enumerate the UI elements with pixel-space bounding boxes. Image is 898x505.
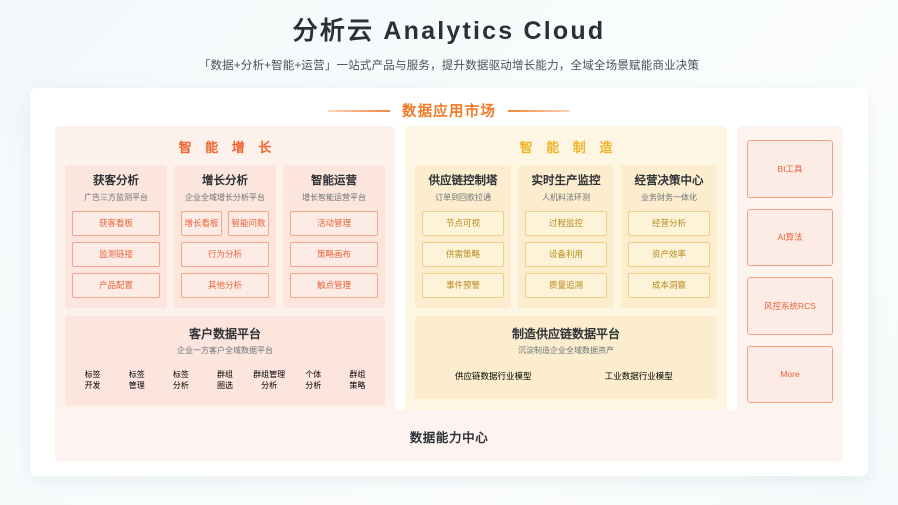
platform-chip-button[interactable]: 标签 开发	[73, 364, 112, 396]
main-card: 数据应用市场 智 能 增 长 获客分析广告三方监测平台获客看板监测链接产品配置增…	[30, 88, 868, 476]
platform-chip-button[interactable]: 标签 管理	[117, 364, 156, 396]
side-tool-button[interactable]: 风控系统RCS	[747, 277, 833, 335]
product-tag-row: 行为分析	[181, 242, 269, 267]
product-tag-row: 产品配置	[72, 273, 160, 298]
product-tag-row: 供需策略	[422, 242, 504, 267]
product-tag-button[interactable]: 过程监控	[525, 211, 607, 236]
data-capability-center-bar: 数据能力中心	[55, 410, 843, 462]
cdp-subtitle: 企业一方客户全域数据平台	[73, 345, 377, 356]
product-tag-row: 触点管理	[290, 273, 378, 298]
product-column: 经营决策中心业务财务一体化经营分析资产效率成本洞察	[621, 165, 717, 308]
page-header: 分析云 Analytics Cloud 「数据+分析+智能+运营」一站式产品与服…	[0, 0, 898, 73]
product-tag-row: 策略画布	[290, 242, 378, 267]
product-column-title: 实时生产监控	[525, 174, 607, 189]
product-column-subtitle: 广告三方监测平台	[72, 192, 160, 203]
product-tag-button[interactable]: 其他分析	[181, 273, 269, 298]
mdp-subtitle: 沉淀制造企业全域数据资产	[423, 345, 709, 356]
product-tag-button[interactable]: 经营分析	[628, 211, 710, 236]
product-tag-row: 设备利用	[525, 242, 607, 267]
customer-data-platform: 客户数据平台 企业一方客户全域数据平台 标签 开发标签 管理标签 分析群组 圈选…	[65, 316, 385, 406]
platform-chip-button[interactable]: 供应链数据行业模型	[423, 364, 564, 389]
product-column-title: 获客分析	[72, 174, 160, 189]
product-tag-rows: 过程监控设备利用质量追溯	[525, 211, 607, 298]
product-tag-button[interactable]: 活动管理	[290, 211, 378, 236]
platform-chip-button[interactable]: 群组 圈选	[205, 364, 244, 396]
product-tag-row: 经营分析	[628, 211, 710, 236]
product-column: 智能运营增长智能运营平台活动管理策略画布触点管理	[283, 165, 385, 308]
product-tag-button[interactable]: 设备利用	[525, 242, 607, 267]
product-tag-rows: 经营分析资产效率成本洞察	[628, 211, 710, 298]
section-banner: 数据应用市场	[30, 88, 868, 121]
product-tag-rows: 活动管理策略画布触点管理	[290, 211, 378, 298]
product-column-title: 增长分析	[181, 174, 269, 189]
growth-columns: 获客分析广告三方监测平台获客看板监测链接产品配置增长分析企业全域增长分析平台增长…	[65, 165, 385, 308]
platform-chip-button[interactable]: 标签 分析	[161, 364, 200, 396]
product-column-subtitle: 企业全域增长分析平台	[181, 192, 269, 203]
product-tag-row: 活动管理	[290, 211, 378, 236]
side-tool-button[interactable]: BI工具	[747, 140, 833, 198]
product-column-subtitle: 订单到回款拉通	[422, 192, 504, 203]
banner-rule-left-icon	[328, 110, 390, 112]
cdp-chip-row: 标签 开发标签 管理标签 分析群组 圈选群组管理 分析个体 分析群组 策略	[73, 364, 377, 396]
product-column: 获客分析广告三方监测平台获客看板监测链接产品配置	[65, 165, 167, 308]
product-column-subtitle: 业务财务一体化	[628, 192, 710, 203]
product-tag-row: 监测链接	[72, 242, 160, 267]
product-tag-row: 增长看板智能问数	[181, 211, 269, 236]
product-column-title: 智能运营	[290, 174, 378, 189]
panel-manufacturing-heading: 智 能 制 造	[415, 137, 717, 156]
panel-smart-manufacturing: 智 能 制 造 供应链控制塔订单到回款拉通节点可视供需策略事件预警实时生产监控人…	[405, 126, 727, 417]
product-tag-button[interactable]: 节点可视	[422, 211, 504, 236]
product-tag-row: 其他分析	[181, 273, 269, 298]
product-tag-rows: 获客看板监测链接产品配置	[72, 211, 160, 298]
platform-chip-button[interactable]: 个体 分析	[294, 364, 333, 396]
product-tag-button[interactable]: 行为分析	[181, 242, 269, 267]
product-column: 增长分析企业全域增长分析平台增长看板智能问数行为分析其他分析	[174, 165, 276, 308]
side-tool-button[interactable]: AI算法	[747, 209, 833, 267]
product-tag-button[interactable]: 产品配置	[72, 273, 160, 298]
panel-smart-growth: 智 能 增 长 获客分析广告三方监测平台获客看板监测链接产品配置增长分析企业全域…	[55, 126, 395, 417]
product-column-subtitle: 人机料法环测	[525, 192, 607, 203]
platform-chip-button[interactable]: 群组管理 分析	[250, 364, 289, 396]
panel-growth-heading: 智 能 增 长	[65, 137, 385, 156]
product-tag-rows: 节点可视供需策略事件预警	[422, 211, 504, 298]
cdp-title: 客户数据平台	[73, 325, 377, 342]
manufacturing-columns: 供应链控制塔订单到回款拉通节点可视供需策略事件预警实时生产监控人机料法环测过程监…	[415, 165, 717, 308]
bottom-bar-title: 数据能力中心	[410, 427, 489, 446]
page-root: 分析云 Analytics Cloud 「数据+分析+智能+运营」一站式产品与服…	[0, 0, 898, 505]
product-tag-row: 成本洞察	[628, 273, 710, 298]
product-tag-button[interactable]: 成本洞察	[628, 273, 710, 298]
page-subtitle: 「数据+分析+智能+运营」一站式产品与服务，提升数据驱动增长能力，全域全场景赋能…	[0, 57, 898, 73]
mdp-chip-row: 供应链数据行业模型工业数据行业模型	[423, 364, 709, 389]
product-column: 实时生产监控人机料法环测过程监控设备利用质量追溯	[518, 165, 614, 308]
market-body: 智 能 增 长 获客分析广告三方监测平台获客看板监测链接产品配置增长分析企业全域…	[55, 126, 843, 417]
product-column-subtitle: 增长智能运营平台	[290, 192, 378, 203]
product-tag-button[interactable]: 监测链接	[72, 242, 160, 267]
side-tool-button[interactable]: More	[747, 346, 833, 404]
mdp-title: 制造供应链数据平台	[423, 325, 709, 342]
product-tag-rows: 增长看板智能问数行为分析其他分析	[181, 211, 269, 298]
product-tag-row: 质量追溯	[525, 273, 607, 298]
product-tag-row: 资产效率	[628, 242, 710, 267]
product-tag-row: 节点可视	[422, 211, 504, 236]
product-tag-button[interactable]: 供需策略	[422, 242, 504, 267]
banner-rule-right-icon	[508, 110, 570, 112]
product-tag-row: 事件预警	[422, 273, 504, 298]
product-tag-button[interactable]: 策略画布	[290, 242, 378, 267]
platform-chip-button[interactable]: 群组 策略	[338, 364, 377, 396]
product-tag-button[interactable]: 智能问数	[228, 211, 269, 236]
product-tag-button[interactable]: 事件预警	[422, 273, 504, 298]
product-tag-button[interactable]: 触点管理	[290, 273, 378, 298]
platform-chip-button[interactable]: 工业数据行业模型	[569, 364, 710, 389]
product-tag-row: 过程监控	[525, 211, 607, 236]
product-column-title: 经营决策中心	[628, 174, 710, 189]
product-column: 供应链控制塔订单到回款拉通节点可视供需策略事件预警	[415, 165, 511, 308]
page-title: 分析云 Analytics Cloud	[0, 14, 898, 48]
panel-side-tools: BI工具AI算法风控系统RCSMore	[737, 126, 843, 417]
product-tag-button[interactable]: 获客看板	[72, 211, 160, 236]
product-tag-button[interactable]: 资产效率	[628, 242, 710, 267]
product-tag-button[interactable]: 增长看板	[181, 211, 222, 236]
side-tool-stack: BI工具AI算法风控系统RCSMore	[747, 140, 833, 403]
product-tag-button[interactable]: 质量追溯	[525, 273, 607, 298]
product-column-title: 供应链控制塔	[422, 174, 504, 189]
manufacturing-data-platform: 制造供应链数据平台 沉淀制造企业全域数据资产 供应链数据行业模型工业数据行业模型	[415, 316, 717, 399]
banner-title: 数据应用市场	[402, 100, 496, 121]
product-tag-row: 获客看板	[72, 211, 160, 236]
